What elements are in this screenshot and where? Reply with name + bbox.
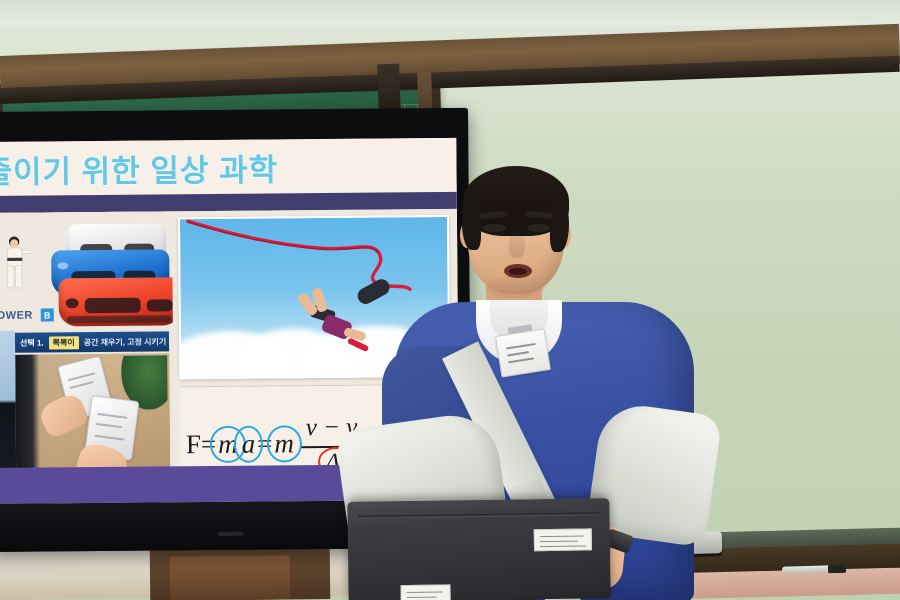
marker-cap <box>828 565 846 573</box>
computer-monitor[interactable] <box>347 498 610 600</box>
hair-side-right <box>550 196 569 252</box>
bumper-red <box>58 277 172 326</box>
cabinet-door-inner[interactable] <box>170 555 290 600</box>
name-badge <box>495 328 551 377</box>
monitor-label-lower <box>400 584 450 600</box>
eye-left <box>483 224 506 232</box>
nose <box>509 234 525 258</box>
taekwondo-figure-icon <box>1 235 32 297</box>
formula-F: F <box>186 429 201 460</box>
slide-left-column: POWER B 선택 1. 뽁뽁이 공간 채우기, 고정 시키기 <box>0 211 174 504</box>
power-label: POWER <box>0 310 33 322</box>
classroom-scene: 줄이기 위한 일상 과학 <box>0 0 900 600</box>
power-badge: B <box>41 308 54 321</box>
marker-pen[interactable] <box>782 565 832 573</box>
banner-keyword: 뽁뽁이 <box>49 336 79 349</box>
monitor-asset-label <box>534 528 592 551</box>
formula-a-circled: a <box>240 429 258 460</box>
slide-title: 줄이기 위한 일상 과학 <box>0 144 278 192</box>
ceiling-shadow <box>0 0 900 26</box>
tv-logo <box>218 532 244 536</box>
banner-prefix: 선택 1. <box>20 337 44 348</box>
chin <box>485 276 545 298</box>
eye-right <box>527 224 550 232</box>
select-banner: 선택 1. 뽁뽁이 공간 채우기, 고정 시키기 <box>15 331 169 352</box>
hair-side-left <box>462 196 481 250</box>
banner-suffix: 공간 채우기, 고정 시키기 <box>84 336 167 348</box>
formula-m2-circled: m <box>272 428 296 459</box>
bumper-illustration-panel: POWER B <box>0 211 173 331</box>
monitor-vent <box>358 512 600 518</box>
mouth-opening <box>509 268 527 275</box>
